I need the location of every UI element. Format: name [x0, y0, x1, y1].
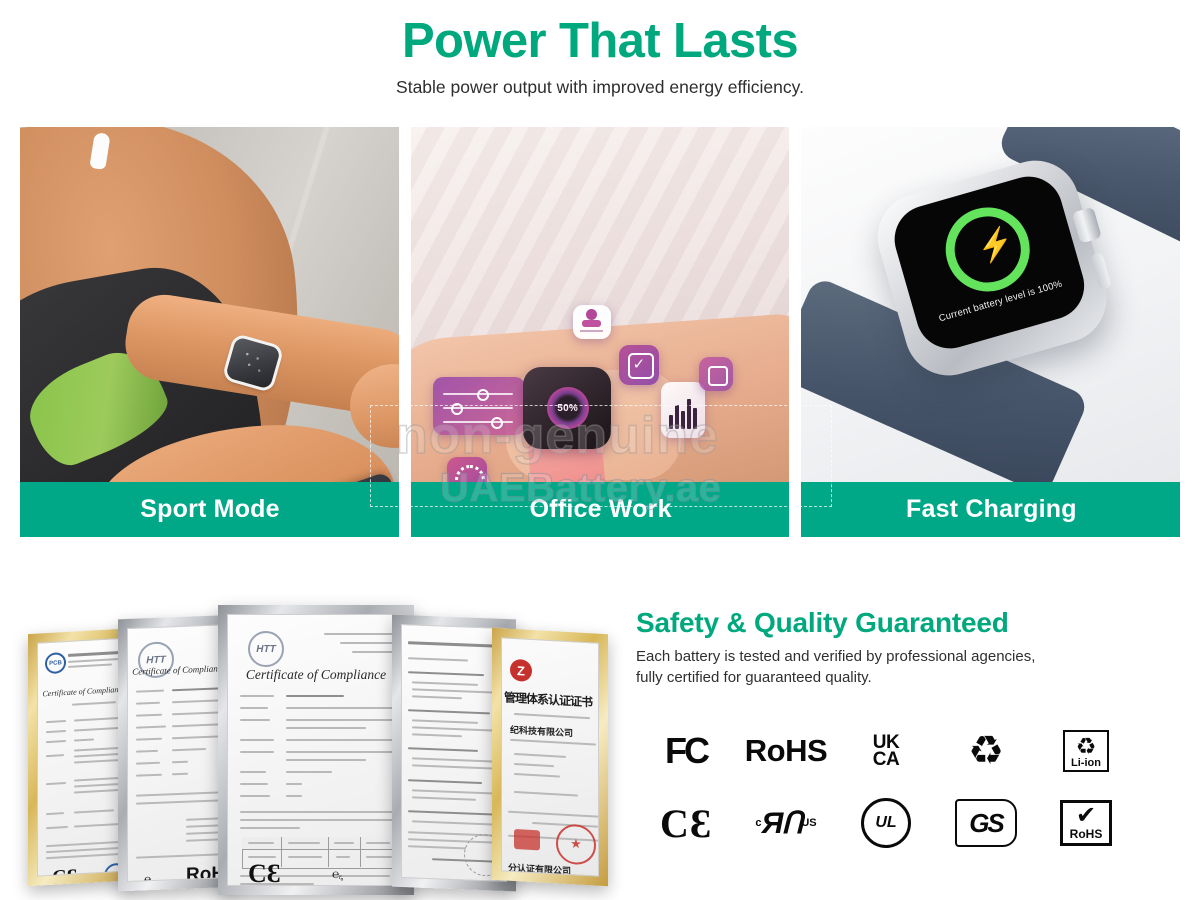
- rohs-badge: RoHS: [736, 733, 836, 769]
- feature-card-label: Office Work: [411, 482, 790, 537]
- marketing-page: Power That Lasts Stable power output wit…: [0, 0, 1200, 900]
- gear-icon: [447, 457, 487, 482]
- recycle-icon: ♻: [936, 731, 1036, 771]
- safety-body-line1: Each battery is tested and verified by p…: [636, 648, 1035, 665]
- certificate-heading: Certificate of Compliance: [38, 684, 130, 698]
- page-title: Power That Lasts: [0, 0, 1200, 67]
- smartwatch-screen: 50%: [523, 367, 611, 449]
- feature-card-label: Sport Mode: [20, 482, 399, 537]
- battery-percent-dial: 50%: [547, 387, 589, 429]
- certificate-gallery: PCB Certificate of Compliance: [22, 605, 612, 885]
- safety-body: Each battery is tested and verified by p…: [636, 646, 1176, 689]
- ul-recognized-badge: UL: [836, 798, 936, 848]
- analytics-chart-icon: [661, 382, 705, 438]
- htt-logo-icon: HTT: [248, 631, 284, 667]
- task-check-icon: ✓: [619, 345, 659, 385]
- li-ion-recycle-badge: ♻ Li-ion: [1036, 730, 1136, 771]
- ukca-badge: UK CA: [836, 734, 936, 769]
- safety-body-line2: fully certified for guaranteed quality.: [636, 669, 872, 686]
- fcc-badge: FC: [636, 730, 736, 772]
- watch-display: ⚡ Current battery level is 100%: [887, 169, 1093, 357]
- ul-mark-icon: ЯՈ: [762, 806, 802, 841]
- hero-section: Power That Lasts Stable power output wit…: [0, 0, 1200, 118]
- sport-mode-photo: [20, 127, 399, 482]
- app-tile-icon: [699, 357, 733, 391]
- safety-title: Safety & Quality Guaranteed: [636, 607, 1176, 639]
- ce-badge: CƐ: [636, 800, 736, 847]
- contact-card-icon: [573, 305, 611, 339]
- battery-percent-value: 50%: [557, 403, 578, 414]
- ukca-line-2: CA: [873, 751, 899, 768]
- checkmark-icon: ✔: [1070, 804, 1103, 828]
- ce-mark-icon: CƐ: [52, 865, 77, 876]
- feature-card-office-work[interactable]: ✓ 50%: [411, 127, 790, 537]
- settings-sliders-icon: [433, 377, 525, 435]
- certificate-heading: 管理体系认证证书: [504, 688, 599, 710]
- red-seal-stamp: [556, 823, 596, 865]
- feature-card-sport-mode[interactable]: Sport Mode: [20, 127, 399, 537]
- ul-circle-label: UL: [861, 798, 911, 848]
- badge-row-2: CƐ c ЯՈ US UL GS ✔ RoHS: [636, 787, 1136, 859]
- li-ion-label: Li-ion: [1071, 757, 1101, 769]
- certificate-item[interactable]: HTT Certificate of Compliance: [218, 605, 414, 895]
- office-work-photo: ✓ 50%: [411, 127, 790, 482]
- feature-card-label: Fast Charging: [801, 482, 1180, 537]
- gs-label: GS: [955, 799, 1017, 847]
- page-subtitle: Stable power output with improved energy…: [0, 67, 1200, 98]
- us-suffix: US: [801, 817, 816, 829]
- c-ul-us-badge: c ЯՈ US: [736, 806, 836, 841]
- lower-section: PCB Certificate of Compliance: [0, 585, 1200, 900]
- fast-charging-photo: ⚡ Current battery level is 100%: [801, 127, 1180, 482]
- safety-block: Safety & Quality Guaranteed Each battery…: [636, 607, 1176, 689]
- badge-row-1: FC RoHS UK CA ♻ ♻ Li-ion: [636, 715, 1136, 787]
- gs-badge: GS: [936, 799, 1036, 847]
- recycle-icon: ♻: [1071, 734, 1101, 758]
- rohs-check-badge: ✔ RoHS: [1036, 800, 1136, 847]
- feature-card-fast-charging[interactable]: ⚡ Current battery level is 100% Fast Cha…: [801, 127, 1180, 537]
- certificate-heading: Certificate of Compliance: [228, 667, 404, 683]
- certificate-item[interactable]: Z 管理体系认证证书 纪科技有限公司 分认证有限公司: [492, 628, 608, 886]
- ce-mark-icon: CƐ: [248, 859, 281, 886]
- certification-badges: FC RoHS UK CA ♻ ♻ Li-ion CƐ: [636, 715, 1136, 859]
- feature-card-row: Sport Mode: [20, 127, 1180, 537]
- rohs-label: RoHS: [1070, 828, 1103, 842]
